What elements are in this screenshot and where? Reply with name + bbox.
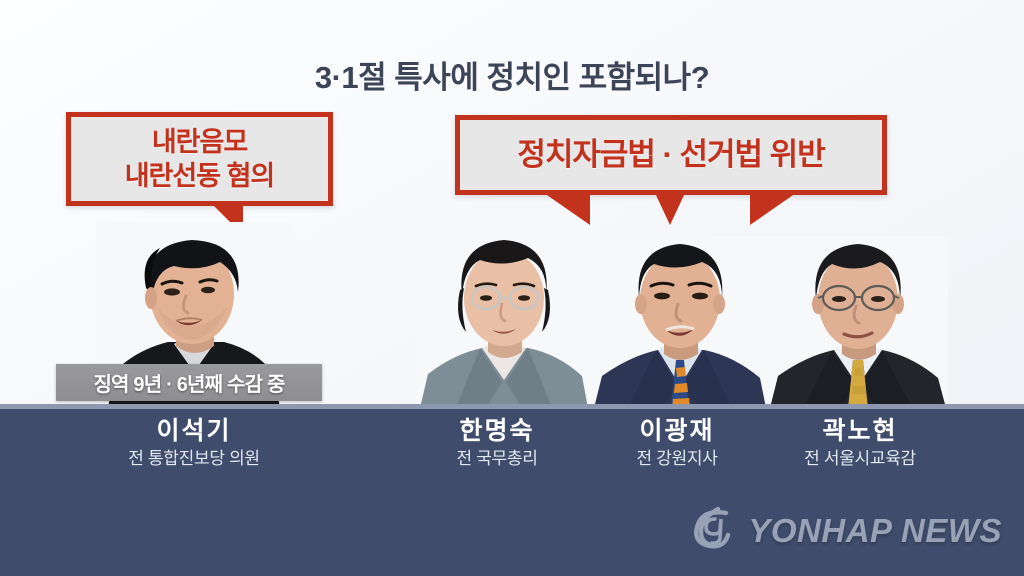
- callout-right-pointer-3: [750, 193, 796, 225]
- person-title-2: 전 국무총리: [404, 447, 590, 471]
- page-title: 3·1절 특사에 정치인 포함되나?: [0, 52, 1024, 97]
- portrait-photo-person-4: [768, 236, 948, 408]
- watermark: YONHAP NEWS: [688, 503, 1002, 558]
- news-graphic: 3·1절 특사에 정치인 포함되나? 내란음모 내란선동 혐의 정치자금법 · …: [0, 0, 1024, 576]
- callout-charge-left: 내란음모 내란선동 혐의: [66, 112, 333, 206]
- callout-right-pointer-2: [655, 193, 685, 225]
- yonhap-swirl-logo-icon: [688, 503, 738, 558]
- callout-left-line-2: 내란선동 혐의: [125, 159, 275, 193]
- watermark-text: YONHAP NEWS: [748, 512, 1002, 550]
- person-name-1: 이석기: [94, 416, 294, 447]
- person-name-2: 한명숙: [404, 416, 590, 447]
- person-label-3: 이광재 전 강원지사: [584, 416, 770, 471]
- person-name-4: 곽노현: [762, 416, 958, 447]
- callout-right-pointer-1: [544, 193, 590, 225]
- person-title-4: 전 서울시교육감: [762, 447, 958, 471]
- callout-right-line-1: 정치자금법 · 선거법 위반: [517, 136, 824, 174]
- callout-left-line-1: 내란음모: [152, 125, 247, 159]
- portrait-photo-person-3: [592, 236, 768, 408]
- status-badge-text: 징역 9년 · 6년째 수감 중: [93, 368, 284, 397]
- person-label-1: 이석기 전 통합진보당 의원: [94, 416, 294, 471]
- portrait-photo-person-2: [416, 228, 592, 408]
- status-badge-sentence: 징역 9년 · 6년째 수감 중: [56, 364, 322, 401]
- callout-charge-right: 정치자금법 · 선거법 위반: [455, 115, 887, 195]
- person-title-3: 전 강원지사: [584, 447, 770, 471]
- person-label-2: 한명숙 전 국무총리: [404, 416, 590, 471]
- person-title-1: 전 통합진보당 의원: [94, 447, 294, 471]
- person-label-4: 곽노현 전 서울시교육감: [762, 416, 958, 471]
- person-name-3: 이광재: [584, 416, 770, 447]
